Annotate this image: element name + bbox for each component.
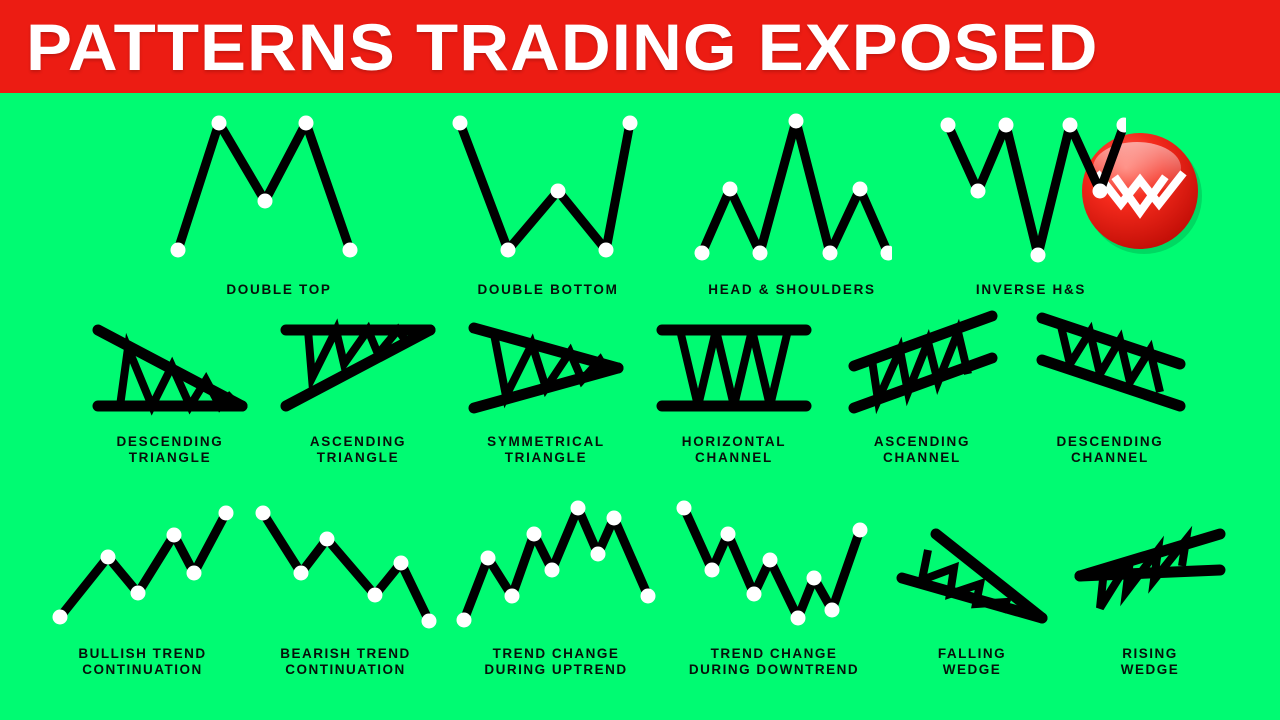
pattern-glyph — [456, 500, 656, 630]
pattern-label: TREND CHANGE DURING UPTREND — [484, 646, 627, 678]
pattern-glyph — [692, 103, 892, 268]
banner: PATTERNS TRADING EXPOSED — [0, 0, 1280, 93]
pattern-figure — [253, 498, 438, 630]
pattern-figure — [674, 498, 874, 630]
pattern-cell[interactable]: TREND CHANGE DURING UPTREND — [456, 498, 656, 678]
pattern-cell[interactable]: FALLING WEDGE — [892, 498, 1052, 678]
pattern-cell[interactable]: BULLISH TREND CONTINUATION — [50, 498, 235, 678]
pattern-label: DESCENDING TRIANGLE — [116, 434, 223, 466]
pattern-glyph — [1070, 522, 1230, 630]
pattern-label: INVERSE H&S — [976, 282, 1086, 298]
pattern-figure — [50, 498, 235, 630]
pattern-figure — [90, 300, 250, 418]
pattern-glyph — [154, 103, 404, 268]
pattern-row-1: DOUBLE TOPDOUBLE BOTTOMHEAD & SHOULDERSI… — [0, 100, 1280, 290]
pattern-glyph — [448, 103, 648, 268]
pattern-label: DOUBLE TOP — [226, 282, 331, 298]
pattern-label: ASCENDING CHANNEL — [874, 434, 970, 466]
pattern-glyph — [674, 500, 874, 630]
pattern-cell[interactable]: HORIZONTAL CHANNEL — [654, 300, 814, 466]
pattern-label: HORIZONTAL CHANNEL — [682, 434, 787, 466]
pattern-cell[interactable]: ASCENDING TRIANGLE — [278, 300, 438, 466]
pattern-label: FALLING WEDGE — [938, 646, 1006, 678]
pattern-label: ASCENDING TRIANGLE — [310, 434, 406, 466]
pattern-glyph — [466, 318, 626, 418]
pattern-cell[interactable]: TREND CHANGE DURING DOWNTREND — [674, 498, 874, 678]
pattern-row-3: BULLISH TREND CONTINUATIONBEARISH TREND … — [0, 498, 1280, 703]
pattern-label: BEARISH TREND CONTINUATION — [280, 646, 411, 678]
pattern-label: TREND CHANGE DURING DOWNTREND — [689, 646, 859, 678]
pattern-cell[interactable]: DESCENDING TRIANGLE — [90, 300, 250, 466]
pattern-figure — [466, 300, 626, 418]
pattern-label: SYMMETRICAL TRIANGLE — [487, 434, 605, 466]
pattern-glyph — [253, 505, 438, 630]
pattern-cell[interactable]: DOUBLE BOTTOM — [448, 100, 648, 298]
pattern-figure — [654, 300, 814, 418]
pattern-figure — [842, 300, 1002, 418]
pattern-figure — [1070, 498, 1230, 630]
pattern-figure — [278, 300, 438, 418]
pattern-cell[interactable]: SYMMETRICAL TRIANGLE — [466, 300, 626, 466]
pattern-glyph — [90, 318, 250, 418]
poster-root: PATTERNS TRADING EXPOSED — [0, 0, 1280, 720]
pattern-glyph — [936, 103, 1126, 268]
pattern-figure — [154, 100, 404, 268]
pattern-figure — [1030, 300, 1190, 418]
pattern-cell[interactable]: INVERSE H&S — [936, 100, 1126, 298]
pattern-glyph — [50, 505, 235, 630]
pattern-glyph — [842, 308, 1002, 418]
pattern-glyph — [1030, 308, 1190, 418]
pattern-glyph — [892, 522, 1052, 630]
pattern-figure — [936, 100, 1126, 268]
pattern-cell[interactable]: BEARISH TREND CONTINUATION — [253, 498, 438, 678]
pattern-cell[interactable]: RISING WEDGE — [1070, 498, 1230, 678]
pattern-figure — [692, 100, 892, 268]
pattern-glyph — [278, 318, 438, 418]
pattern-row-2: DESCENDING TRIANGLEASCENDING TRIANGLESYM… — [0, 300, 1280, 475]
page-title: PATTERNS TRADING EXPOSED — [26, 14, 1098, 80]
pattern-cell[interactable]: HEAD & SHOULDERS — [692, 100, 892, 298]
pattern-cell[interactable]: ASCENDING CHANNEL — [842, 300, 1002, 466]
pattern-label: DESCENDING CHANNEL — [1056, 434, 1163, 466]
pattern-label: HEAD & SHOULDERS — [708, 282, 875, 298]
pattern-figure — [892, 498, 1052, 630]
pattern-glyph — [654, 318, 814, 418]
pattern-label: BULLISH TREND CONTINUATION — [78, 646, 206, 678]
pattern-figure — [456, 498, 656, 630]
pattern-label: DOUBLE BOTTOM — [477, 282, 618, 298]
pattern-cell[interactable]: DESCENDING CHANNEL — [1030, 300, 1190, 466]
pattern-figure — [448, 100, 648, 268]
pattern-cell[interactable]: DOUBLE TOP — [154, 100, 404, 298]
pattern-label: RISING WEDGE — [1121, 646, 1180, 678]
